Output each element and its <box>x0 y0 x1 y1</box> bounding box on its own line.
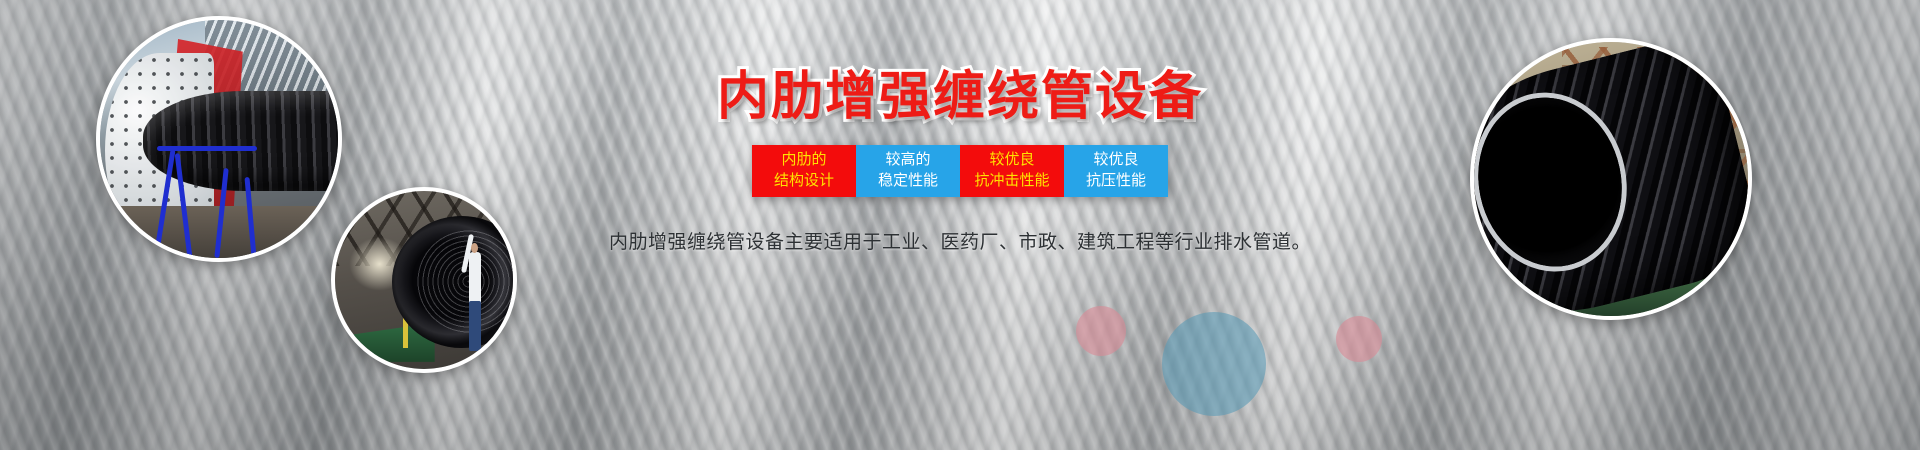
feature-badge-2-line2: 稳定性能 <box>878 171 938 192</box>
feature-badge-1-line2: 结构设计 <box>774 171 834 192</box>
photo2-worker-torso <box>469 252 481 305</box>
feature-badge-1[interactable]: 内肋的 结构设计 <box>752 145 856 197</box>
feature-badge-1-line1: 内肋的 <box>781 150 826 171</box>
photo2-worker-legs <box>469 301 481 351</box>
banner-description: 内肋增强缠绕管设备主要适用于工业、医药厂、市政、建筑工程等行业排水管道。 <box>560 227 1360 254</box>
photo-large-pipe-end <box>1470 38 1752 320</box>
photo-pipe-winding-machine <box>96 16 342 262</box>
dot-blue-center <box>1162 312 1266 416</box>
photo-worker-large-pipe <box>331 187 517 373</box>
feature-badge-row: 内肋的 结构设计 较高的 稳定性能 较优良 抗冲击性能 较优良 抗压性能 <box>752 145 1168 197</box>
feature-badge-2[interactable]: 较高的 稳定性能 <box>856 145 960 197</box>
feature-badge-4-line2: 抗压性能 <box>1086 171 1146 192</box>
feature-badge-4-line1: 较优良 <box>1093 150 1138 171</box>
feature-badge-3-line2: 抗冲击性能 <box>974 171 1049 192</box>
banner-content: 内肋增强缠绕管设备 内肋的 结构设计 较高的 稳定性能 较优良 抗冲击性能 较优… <box>560 70 1360 254</box>
photo1-corrugated-pipe <box>143 91 342 191</box>
page-title: 内肋增强缠绕管设备 <box>560 70 1360 125</box>
feature-badge-3[interactable]: 较优良 抗冲击性能 <box>960 145 1064 197</box>
promo-banner: 内肋增强缠绕管设备 内肋的 结构设计 较高的 稳定性能 较优良 抗冲击性能 较优… <box>0 0 1920 450</box>
feature-badge-4[interactable]: 较优良 抗压性能 <box>1064 145 1168 197</box>
feature-badge-2-line1: 较高的 <box>885 150 930 171</box>
dot-pink-left <box>1076 306 1126 356</box>
photo1-blue-hose-manifold <box>157 146 257 151</box>
dot-pink-right <box>1336 316 1382 362</box>
feature-badge-3-line1: 较优良 <box>989 150 1034 171</box>
